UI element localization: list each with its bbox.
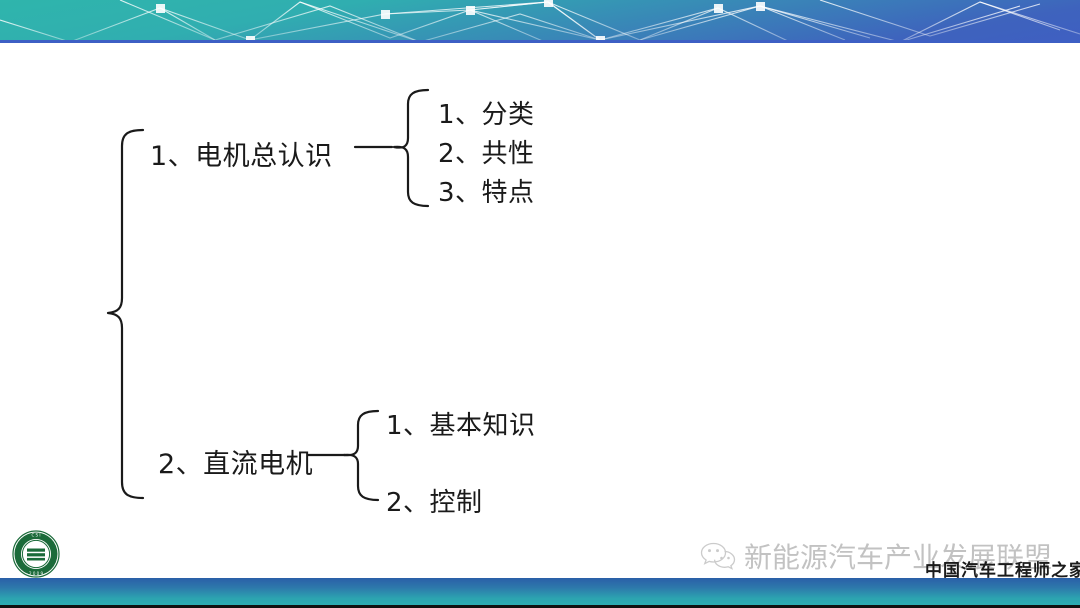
network-pattern-icon xyxy=(0,0,1080,42)
branch-2-child-1: 1、基本知识 xyxy=(386,405,536,442)
header-banner xyxy=(0,0,1080,42)
svg-text:C S I: C S I xyxy=(31,533,40,538)
root-brace xyxy=(108,130,143,498)
branch-1-child-3: 3、特点 xyxy=(438,172,535,209)
branch-1-child-2: 2、共性 xyxy=(438,133,535,170)
branch-2-child-2: 2、控制 xyxy=(386,482,483,519)
branch-1-brace xyxy=(394,90,428,206)
branch-1-label: 1、电机总认识 xyxy=(150,134,333,173)
csi-organization-logo: C S I · 2 0 0 9 · xyxy=(12,530,60,578)
branch-2-label: 2、直流电机 xyxy=(158,442,313,481)
branch-2-brace xyxy=(344,411,378,500)
branch-1-child-1: 1、分类 xyxy=(438,94,535,131)
presentation-slide: 1、电机总认识 1、分类 2、共性 3、特点 2、直流电机 1、基本知识 2、控… xyxy=(0,0,1080,608)
footer-banner xyxy=(0,578,1080,605)
brace-diagram: 1、电机总认识 1、分类 2、共性 3、特点 2、直流电机 1、基本知识 2、控… xyxy=(0,42,1080,520)
wechat-icon xyxy=(700,541,736,571)
svg-text:· 2 0 0 9 ·: · 2 0 0 9 · xyxy=(26,571,45,576)
